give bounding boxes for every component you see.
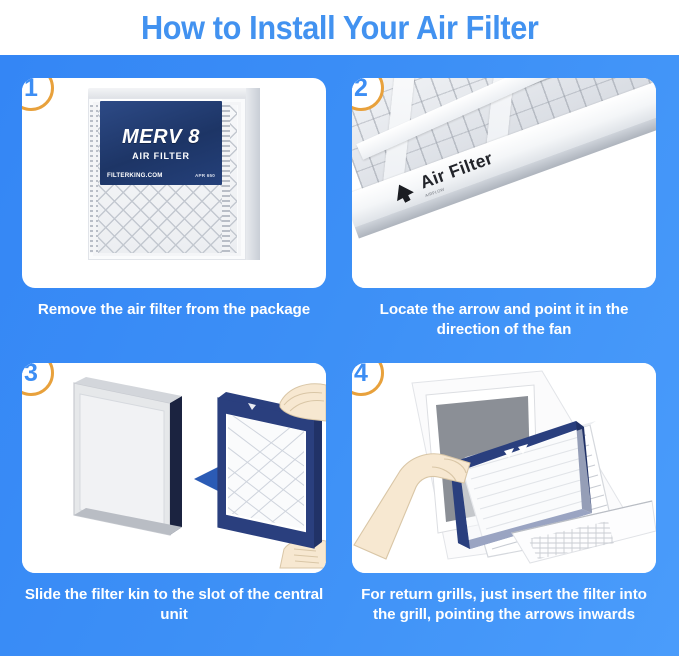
filter-front-face: FILTER KING MADE IN USA: [88, 98, 246, 260]
filter-side-bevel: [246, 88, 260, 260]
step-1-image-card: FILTER KING MADE IN USA: [22, 78, 326, 288]
merv-8-label: FILTER KING MADE IN USA: [100, 101, 222, 185]
central-unit-slot: [74, 377, 182, 535]
step-4-caption: For return grills, just insert the filte…: [352, 585, 656, 625]
filter-king-logo: FILTER KING: [104, 98, 132, 99]
label-header-strip: FILTER KING MADE IN USA: [100, 98, 222, 101]
step-2-image-card: Air Filter AIRFLOW 2: [352, 78, 656, 288]
step-4-image-card: 4: [352, 363, 656, 573]
step-3-caption: Slide the filter kin to the slot of the …: [22, 585, 326, 625]
step-card-3: 3 Slide the filter kin to the slot of th…: [22, 363, 326, 625]
crown-icon: [104, 98, 113, 99]
air-filter-corner-with-direction-arrow: Air Filter AIRFLOW: [352, 78, 656, 288]
label-footer-strip: FILTERKING.COM APR 650: [107, 172, 215, 179]
filter-corner-body: Air Filter AIRFLOW: [352, 78, 656, 288]
brand-wordmark: FILTER KING: [115, 98, 132, 99]
step-4-illustration: [352, 363, 656, 573]
air-filter-product: FILTER KING MADE IN USA: [88, 88, 260, 260]
infographic-page: How to Install Your Air Filter: [0, 0, 679, 656]
merv-8-air-filter-product-photo: FILTER KING MADE IN USA: [22, 78, 326, 288]
step-2-caption: Locate the arrow and point it in the dir…: [352, 300, 656, 340]
page-title: How to Install Your Air Filter: [141, 9, 539, 47]
header-band: How to Install Your Air Filter: [0, 0, 679, 55]
website-text: FILTERKING.COM: [107, 172, 163, 179]
step-3-illustration: [22, 363, 326, 573]
step-1-caption: Remove the air filter from the package: [22, 300, 326, 320]
brand-line-2: KING: [115, 98, 132, 99]
apr-rating-text: APR 650: [195, 173, 215, 178]
air-filter-subtitle: AIR FILTER: [100, 151, 222, 161]
step-3-image-card: 3: [22, 363, 326, 573]
step-card-2: Air Filter AIRFLOW 2 Locate the arrow an…: [352, 78, 656, 340]
insert-filter-into-return-grill: [352, 363, 656, 573]
step-card-4: 4 For return grills, just insert the fil…: [352, 363, 656, 625]
steps-grid: FILTER KING MADE IN USA: [0, 55, 679, 656]
step-card-1: FILTER KING MADE IN USA: [22, 78, 326, 320]
slide-filter-into-central-unit-slot: [22, 363, 326, 573]
merv-rating: MERV 8: [100, 127, 222, 147]
